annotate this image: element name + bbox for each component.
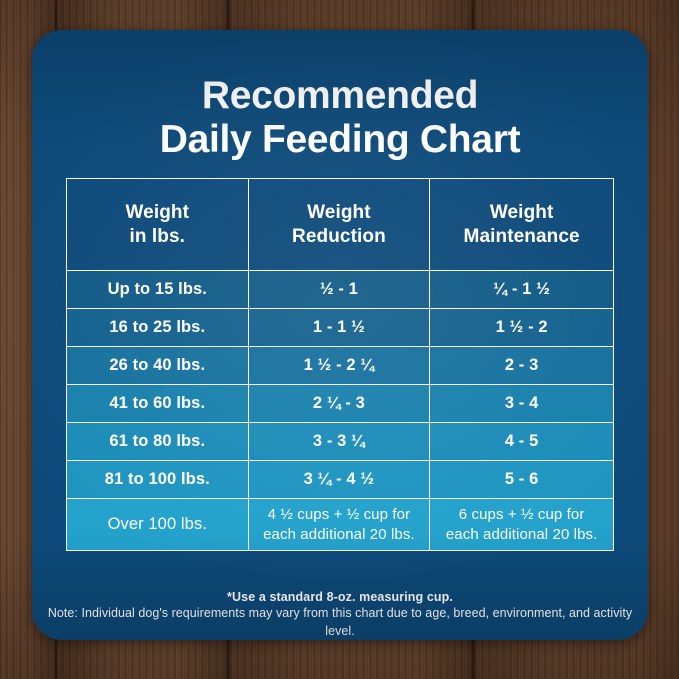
- cell-maintenance-line1: 6 cups + ½ cup for: [430, 505, 613, 525]
- column-header-reduction-line1: Weight: [249, 201, 430, 225]
- cell-maintenance: 6 cups + ½ cup for each additional 20 lb…: [430, 499, 614, 551]
- table-header: Weight in lbs. Weight Reduction Weight M…: [67, 179, 614, 271]
- cell-maintenance: 5 - 6: [430, 461, 614, 499]
- cell-reduction: 1 - 1 ½: [248, 309, 430, 347]
- cell-reduction: ½ - 1: [248, 271, 430, 309]
- cell-maintenance: 1 ½ - 2: [430, 309, 614, 347]
- cell-maintenance: 4 - 5: [430, 423, 614, 461]
- cell-reduction: 2 ¼ - 3: [248, 385, 430, 423]
- cell-maintenance-line2: each additional 20 lbs.: [430, 525, 613, 545]
- cell-weight: 16 to 25 lbs.: [67, 309, 249, 347]
- cell-reduction: 4 ½ cups + ½ cup for each additional 20 …: [248, 499, 430, 551]
- cell-weight: Over 100 lbs.: [67, 499, 249, 551]
- cell-weight: 41 to 60 lbs.: [67, 385, 249, 423]
- cell-weight: 26 to 40 lbs.: [67, 347, 249, 385]
- cell-weight: 81 to 100 lbs.: [67, 461, 249, 499]
- cell-reduction-line2: each additional 20 lbs.: [249, 525, 430, 545]
- footer-notes: *Use a standard 8-oz. measuring cup. Not…: [32, 590, 648, 640]
- table-row: Up to 15 lbs. ½ - 1 ¼ - 1 ½: [67, 271, 614, 309]
- page-title-line2: Daily Feeding Chart: [32, 118, 648, 162]
- page-title: Recommended Daily Feeding Chart: [32, 30, 648, 161]
- table-body: Up to 15 lbs. ½ - 1 ¼ - 1 ½ 16 to 25 lbs…: [67, 271, 614, 551]
- column-header-weight-reduction: Weight Reduction: [248, 179, 430, 271]
- table-row: Over 100 lbs. 4 ½ cups + ½ cup for each …: [67, 499, 614, 551]
- table-row: 81 to 100 lbs. 3 ¼ - 4 ½ 5 - 6: [67, 461, 614, 499]
- cell-reduction-line1: 4 ½ cups + ½ cup for: [249, 505, 430, 525]
- cell-reduction: 3 - 3 ¼: [248, 423, 430, 461]
- column-header-weight: Weight in lbs.: [67, 179, 249, 271]
- column-header-weight-line1: Weight: [67, 201, 248, 225]
- column-header-maintenance-line2: Maintenance: [430, 225, 613, 249]
- table-row: 26 to 40 lbs. 1 ½ - 2 ¼ 2 - 3: [67, 347, 614, 385]
- note-line-1: Note: Individual dog's requirements may …: [32, 604, 648, 640]
- wood-background: Recommended Daily Feeding Chart Weight i…: [0, 0, 679, 679]
- feeding-chart-table: Weight in lbs. Weight Reduction Weight M…: [66, 178, 614, 551]
- table-header-row: Weight in lbs. Weight Reduction Weight M…: [67, 179, 614, 271]
- column-header-weight-line2: in lbs.: [67, 225, 248, 249]
- cell-weight: Up to 15 lbs.: [67, 271, 249, 309]
- column-header-weight-maintenance: Weight Maintenance: [430, 179, 614, 271]
- column-header-reduction-line2: Reduction: [249, 225, 430, 249]
- cell-maintenance: 2 - 3: [430, 347, 614, 385]
- cell-reduction: 3 ¼ - 4 ½: [248, 461, 430, 499]
- page-title-line1: Recommended: [202, 74, 478, 117]
- cell-maintenance: ¼ - 1 ½: [430, 271, 614, 309]
- table-row: 16 to 25 lbs. 1 - 1 ½ 1 ½ - 2: [67, 309, 614, 347]
- table-row: 41 to 60 lbs. 2 ¼ - 3 3 - 4: [67, 385, 614, 423]
- cell-weight: 61 to 80 lbs.: [67, 423, 249, 461]
- column-header-maintenance-line1: Weight: [430, 201, 613, 225]
- table-row: 61 to 80 lbs. 3 - 3 ¼ 4 - 5: [67, 423, 614, 461]
- note-measuring-cup: *Use a standard 8-oz. measuring cup.: [32, 590, 648, 604]
- cell-reduction: 1 ½ - 2 ¼: [248, 347, 430, 385]
- feeding-chart-card: Recommended Daily Feeding Chart Weight i…: [32, 30, 648, 640]
- cell-maintenance: 3 - 4: [430, 385, 614, 423]
